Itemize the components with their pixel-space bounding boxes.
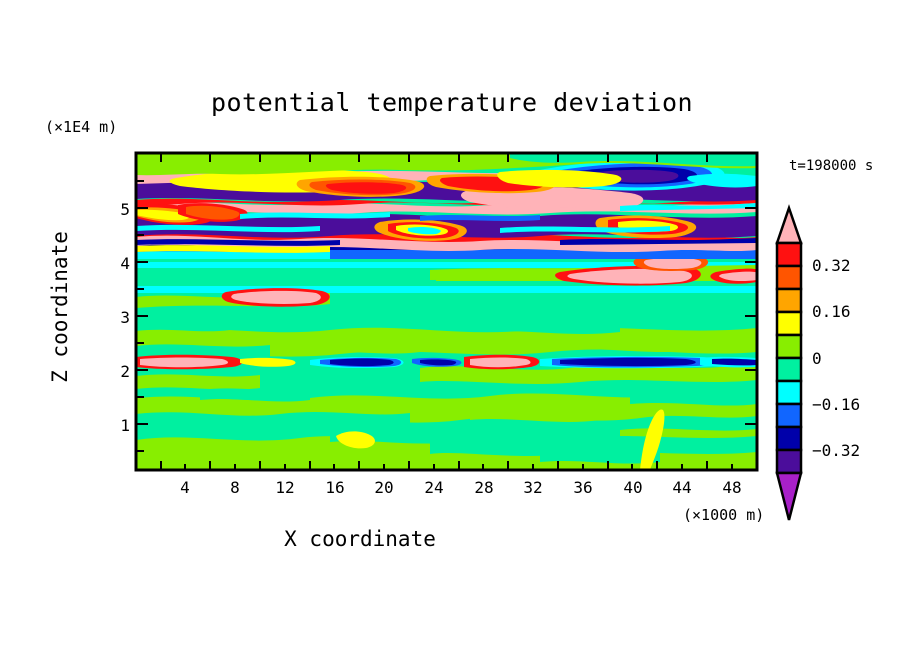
colorbar-band: [777, 289, 801, 312]
colorbar-band: [777, 243, 801, 266]
colorbar-under-arrow: [777, 473, 801, 520]
colorbar-band: [777, 404, 801, 427]
figure-canvas: potential temperature deviation (×1E4 m)…: [0, 0, 904, 654]
colorbar-band: [777, 335, 801, 358]
colorbar: [777, 208, 801, 520]
contour-plot-area: [0, 0, 904, 654]
contour-field: [136, 153, 757, 470]
cold-streak-layer: [136, 355, 757, 370]
colorbar-band: [777, 266, 801, 289]
colorbar-band: [777, 312, 801, 335]
colorbar-band: [777, 427, 801, 450]
colorbar-band: [777, 358, 801, 381]
colorbar-band: [777, 450, 801, 473]
colorbar-over-arrow: [777, 208, 801, 243]
upper-turbulent-layer: [136, 160, 757, 259]
colorbar-band: [777, 381, 801, 404]
